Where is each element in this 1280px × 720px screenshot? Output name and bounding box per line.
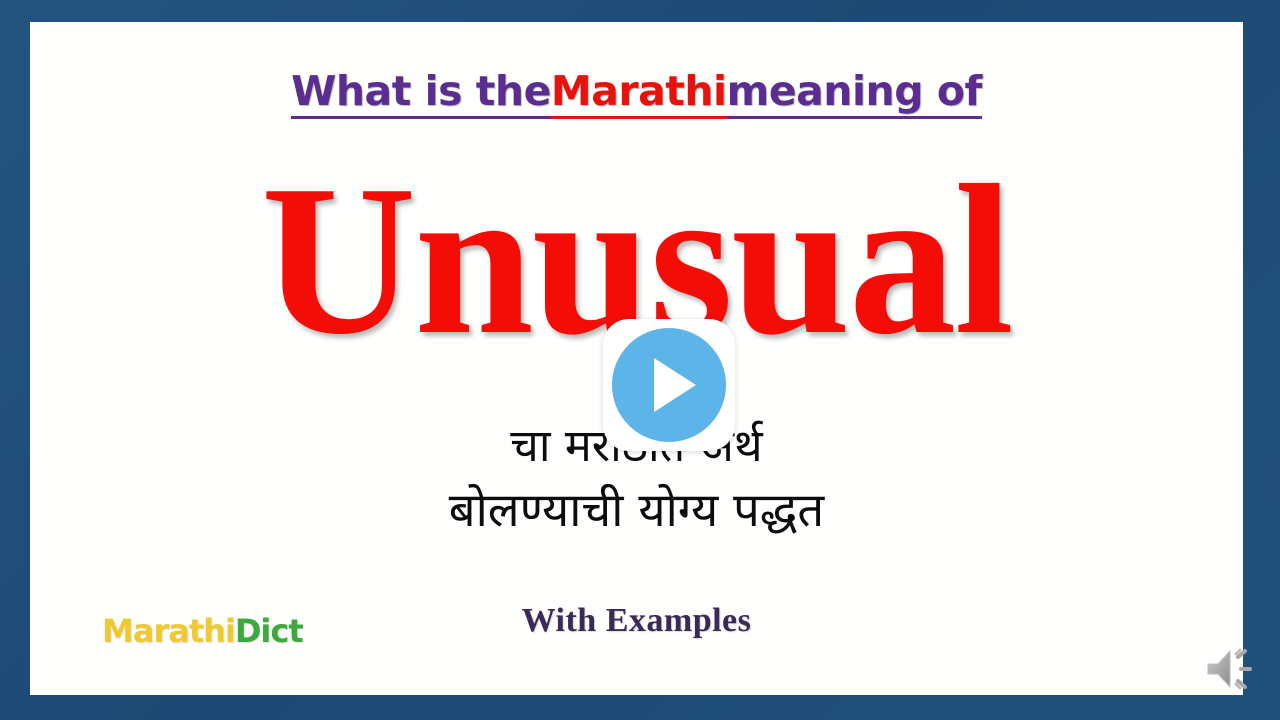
play-button[interactable]	[603, 319, 735, 451]
slide-canvas: What is the Marathi meaning of Unusual च…	[30, 22, 1243, 695]
marathi-line-2: बोलण्याची योग्य पद्धत	[30, 478, 1243, 545]
play-icon[interactable]	[612, 328, 726, 442]
brand-logo-part-1: Marathi	[102, 612, 235, 650]
speaker-volume-icon	[1202, 638, 1264, 700]
headline: What is the Marathi meaning of	[30, 70, 1243, 119]
headline-part-1: What is the	[291, 70, 551, 119]
play-triangle-glyph	[654, 358, 696, 412]
brand-logo-part-2: Dict	[235, 612, 303, 650]
headline-part-2-marathi: Marathi	[551, 70, 727, 119]
headline-part-3: meaning of	[727, 70, 982, 119]
brand-logo: MarathiDict	[102, 612, 303, 650]
video-slide-frame: What is the Marathi meaning of Unusual च…	[0, 0, 1280, 720]
